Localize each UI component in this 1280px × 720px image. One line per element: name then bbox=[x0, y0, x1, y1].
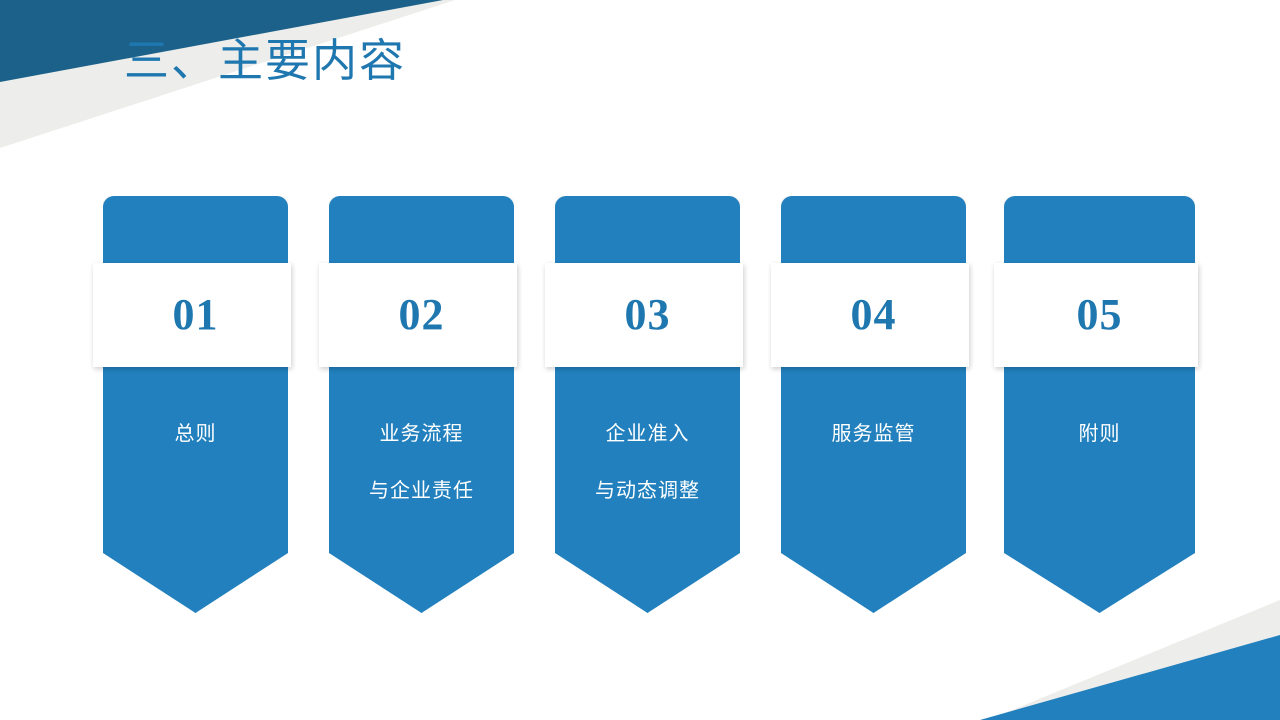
slide-canvas: 三、主要内容 总则 01 业务流程 与企业责任 02 bbox=[0, 0, 1280, 720]
banner-label-line2: 与企业责任 bbox=[329, 463, 514, 520]
banner-number: 05 bbox=[1004, 263, 1195, 367]
banner-shape bbox=[555, 196, 740, 613]
agenda-banner-03[interactable]: 企业准入 与动态调整 03 bbox=[555, 196, 740, 613]
banner-number-band: 03 bbox=[545, 263, 743, 367]
banner-label-line1: 企业准入 bbox=[606, 423, 690, 445]
decorative-corner-bottom-right-blue bbox=[980, 635, 1280, 720]
banner-shape bbox=[781, 196, 966, 613]
banner-number: 01 bbox=[103, 263, 288, 367]
agenda-banner-group: 总则 01 业务流程 与企业责任 02 企业准入 与动态调整 bbox=[103, 196, 1195, 616]
banner-number: 04 bbox=[781, 263, 966, 367]
agenda-banner-01[interactable]: 总则 01 bbox=[103, 196, 288, 613]
banner-number: 03 bbox=[555, 263, 740, 367]
banner-label: 附则 bbox=[1004, 406, 1195, 463]
banner-label: 业务流程 与企业责任 bbox=[329, 406, 514, 520]
banner-label: 企业准入 与动态调整 bbox=[555, 406, 740, 520]
banner-shape bbox=[103, 196, 288, 613]
banner-label-line1: 业务流程 bbox=[380, 423, 464, 445]
banner-number-band: 04 bbox=[771, 263, 969, 367]
banner-label-line1: 服务监管 bbox=[832, 423, 916, 445]
agenda-banner-05[interactable]: 附则 05 bbox=[1004, 196, 1195, 613]
banner-number-band: 02 bbox=[319, 263, 517, 367]
banner-label: 总则 bbox=[103, 406, 288, 463]
agenda-banner-04[interactable]: 服务监管 04 bbox=[781, 196, 966, 613]
banner-shape bbox=[1004, 196, 1195, 613]
agenda-banner-02[interactable]: 业务流程 与企业责任 02 bbox=[329, 196, 514, 613]
banner-number-band: 05 bbox=[994, 263, 1198, 367]
banner-label-line2: 与动态调整 bbox=[555, 463, 740, 520]
banner-number: 02 bbox=[329, 263, 514, 367]
banner-label-line1: 附则 bbox=[1079, 423, 1121, 445]
banner-label-line1: 总则 bbox=[175, 423, 217, 445]
page-title: 三、主要内容 bbox=[124, 31, 406, 91]
banner-shape bbox=[329, 196, 514, 613]
banner-label: 服务监管 bbox=[781, 406, 966, 463]
banner-number-band: 01 bbox=[93, 263, 291, 367]
